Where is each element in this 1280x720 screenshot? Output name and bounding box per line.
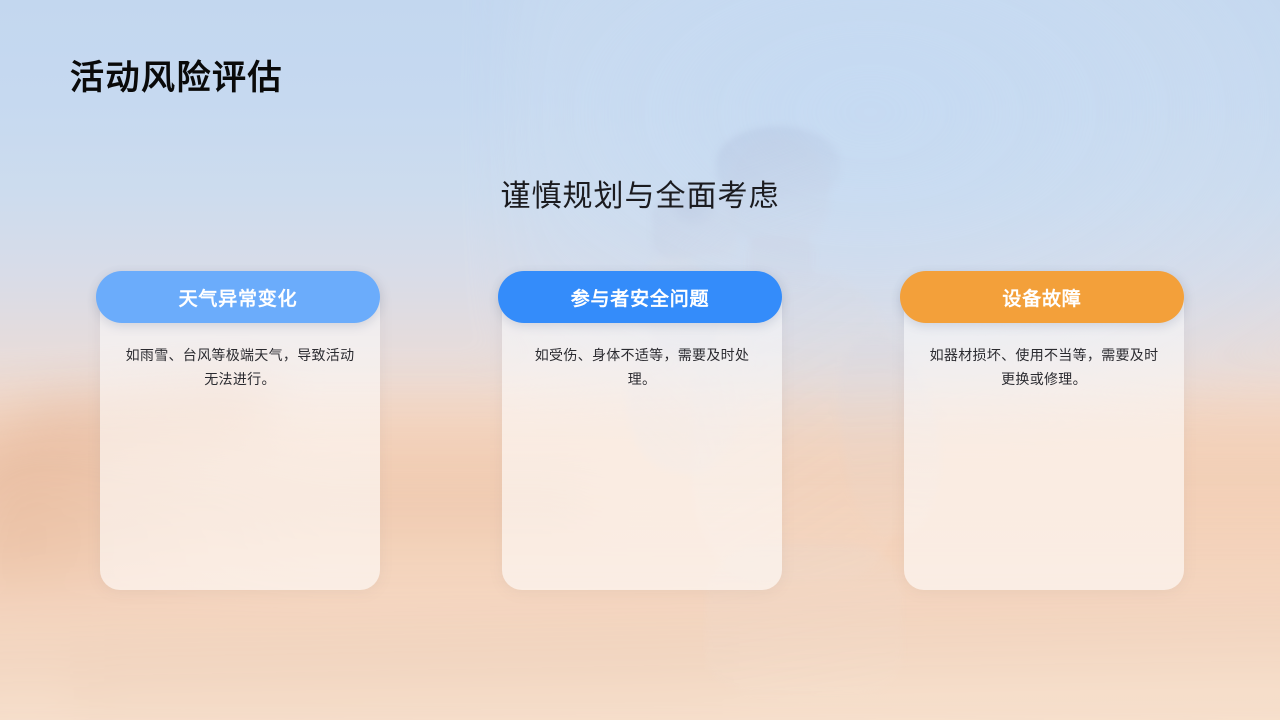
risk-card-heading-label: 设备故障: [1002, 284, 1081, 311]
risk-card-heading-label: 天气异常变化: [179, 284, 298, 311]
risk-card[interactable]: 设备故障 如器材损坏、使用不当等，需要及时更换或修理。: [904, 275, 1184, 590]
risk-card-description: 如器材损坏、使用不当等，需要及时更换或修理。: [904, 343, 1184, 391]
page-subtitle: 谨慎规划与全面考虑: [0, 175, 1280, 219]
risk-card-header: 天气异常变化: [96, 271, 380, 323]
page-title: 活动风险评估: [70, 54, 283, 102]
risk-card-description: 如受伤、身体不适等，需要及时处理。: [502, 343, 782, 391]
risk-card-heading-label: 参与者安全问题: [571, 284, 710, 311]
risk-card-header: 参与者安全问题: [498, 271, 782, 323]
risk-card[interactable]: 参与者安全问题 如受伤、身体不适等，需要及时处理。: [502, 275, 782, 590]
slide-canvas: 活动风险评估 谨慎规划与全面考虑 天气异常变化 如雨雪、台风等极端天气，导致活动…: [0, 0, 1280, 720]
risk-card-row: 天气异常变化 如雨雪、台风等极端天气，导致活动无法进行。 参与者安全问题 如受伤…: [100, 275, 1184, 590]
risk-card-description: 如雨雪、台风等极端天气，导致活动无法进行。: [100, 343, 380, 391]
risk-card[interactable]: 天气异常变化 如雨雪、台风等极端天气，导致活动无法进行。: [100, 275, 380, 590]
risk-card-header: 设备故障: [900, 271, 1184, 323]
